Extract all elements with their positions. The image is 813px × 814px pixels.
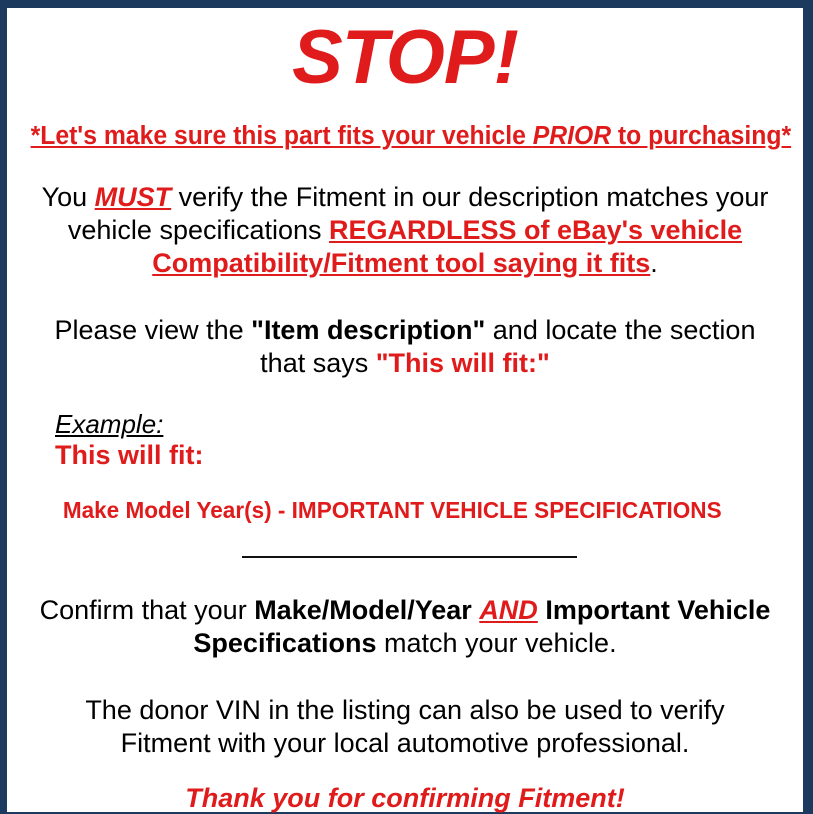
example-fit-heading: This will fit: xyxy=(55,440,791,471)
item-description-emphasis: "Item description" xyxy=(251,315,485,345)
paragraph-confirm: Confirm that your Make/Model/Year AND Im… xyxy=(19,594,791,660)
example-label: Example: xyxy=(55,410,163,439)
confirm-part-4: match your vehicle. xyxy=(376,628,616,658)
stop-headline: STOP! xyxy=(19,20,791,96)
example-spec-line: Make Model Year(s) - IMPORTANT VEHICLE S… xyxy=(55,497,776,523)
fitment-subtitle: *Let's make sure this part fits your veh… xyxy=(31,122,780,150)
paragraph-donor-vin: The donor VIN in the listing can also be… xyxy=(19,694,791,760)
confirm-part-1: Confirm that your xyxy=(40,595,255,625)
subtitle-prefix: *Let's make sure this part fits your veh… xyxy=(31,122,533,150)
must-emphasis: MUST xyxy=(95,182,172,212)
must-part-3: . xyxy=(650,248,658,278)
view-part-1: Please view the xyxy=(55,315,252,345)
fitment-notice-body: STOP! *Let's make sure this part fits yo… xyxy=(7,20,803,812)
this-will-fit-emphasis: "This will fit:" xyxy=(376,348,550,378)
and-emphasis: AND xyxy=(479,595,538,625)
paragraph-must-verify: You MUST verify the Fitment in our descr… xyxy=(19,181,791,280)
subtitle-prior-emphasis: PRIOR xyxy=(533,122,611,150)
paragraph-item-description: Please view the "Item description" and l… xyxy=(19,314,791,380)
example-label-row: Example: xyxy=(55,410,791,439)
make-model-year-emphasis: Make/Model/Year xyxy=(254,595,472,625)
closing-thank-you: Thank you for confirming Fitment! xyxy=(19,782,791,814)
must-part-1: You xyxy=(42,182,95,212)
subtitle-suffix: to purchasing* xyxy=(611,122,791,150)
example-block: Example: This will fit: Make Model Year(… xyxy=(19,410,791,524)
fitment-notice-frame: STOP! *Let's make sure this part fits yo… xyxy=(0,0,813,814)
section-divider xyxy=(19,550,791,564)
divider-line xyxy=(242,556,577,558)
